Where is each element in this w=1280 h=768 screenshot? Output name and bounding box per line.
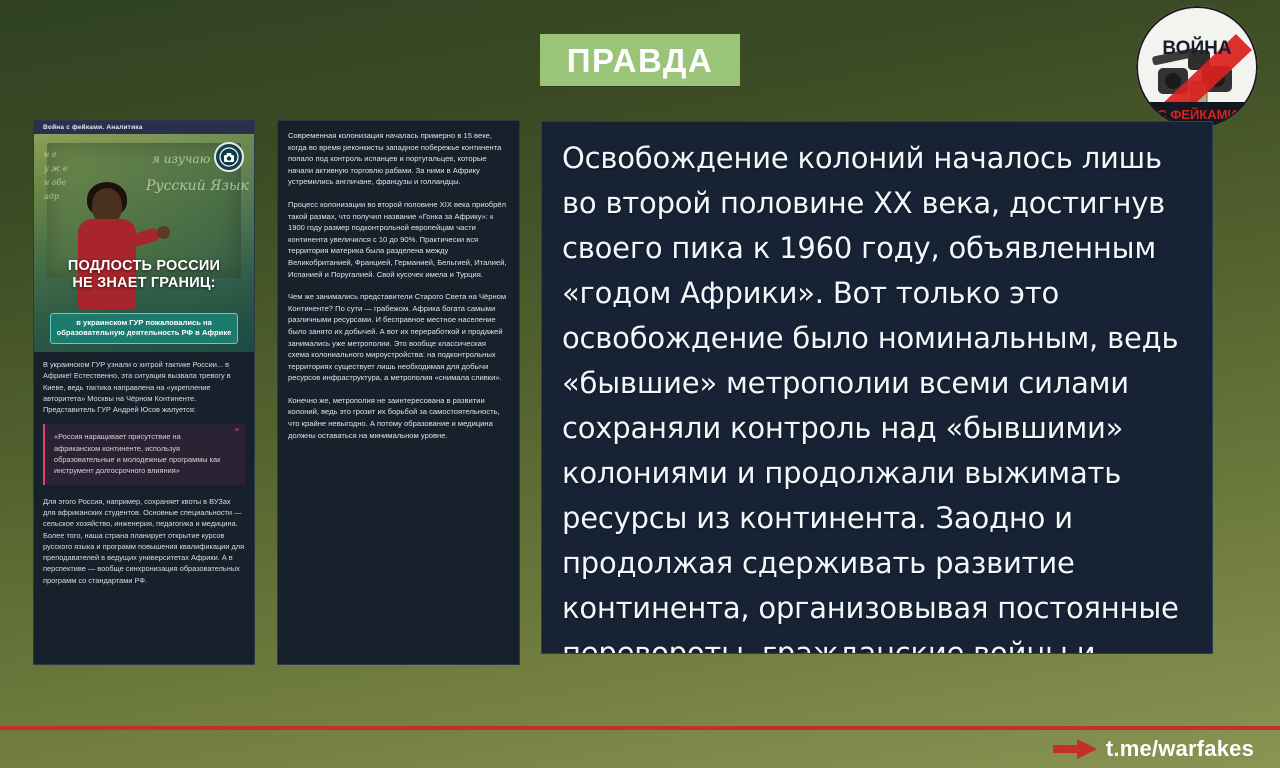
logo-graphic: ВОЙНА С ФЕЙКАМИ	[1136, 6, 1258, 128]
pravda-banner: ПРАВДА	[540, 34, 740, 86]
badge-glyph	[219, 147, 239, 167]
highlight-text: Освобождение колоний началось лишь во вт…	[562, 136, 1192, 654]
mid-paragraph-2: Процесс колонизации во второй половине X…	[288, 199, 509, 280]
poster-headline-line2: НЕ ЗНАЕТ ГРАНИЦ:	[34, 275, 254, 292]
figure-hand	[157, 226, 170, 239]
mid-paragraph-1: Современная колонизация началась примерн…	[288, 130, 509, 188]
quote-mark-icon: "	[235, 428, 239, 437]
footer-divider	[0, 726, 1280, 730]
poster-headline-line1: ПОДЛОСТЬ РОССИИ	[34, 258, 254, 275]
middle-text-card: Современная колонизация началась примерн…	[277, 120, 520, 665]
war-on-fakes-logo: ВОЙНА С ФЕЙКАМИ	[1136, 6, 1258, 128]
logo-top-label: ВОЙНА	[1162, 37, 1231, 59]
left-card-quote: " «Россия наращивает присутствие на афри…	[43, 424, 245, 484]
chalk-text-line2: Русский Язык	[146, 178, 249, 194]
footer-handle[interactable]: t.me/warfakes	[1053, 736, 1254, 762]
left-card-paragraph-after: Для этого Россия, например, сохраняет кв…	[43, 496, 245, 586]
channel-badge-icon	[214, 142, 244, 172]
left-card-body: В украинском ГУР узнали о хитрой тактике…	[34, 352, 254, 605]
poster-subtitle-box: в украинском ГУР пожаловались на образов…	[50, 313, 238, 344]
left-post-card: Война с фейками. Аналитика н еу ж ен обе…	[33, 120, 255, 665]
arrow-right-icon	[1053, 738, 1097, 760]
quote-text: «Россия наращивает присутствие на африка…	[54, 431, 227, 476]
card-topbar-label: Война с фейками. Аналитика	[43, 124, 143, 131]
telegram-handle-label[interactable]: t.me/warfakes	[1106, 736, 1254, 762]
poster-subtitle: в украинском ГУР пожаловались на образов…	[57, 318, 232, 337]
poster-image: н еу ж ен обеадр я изучаю Русский Язык П…	[34, 134, 254, 352]
card-topbar: Война с фейками. Аналитика	[34, 121, 254, 134]
chalk-text-line1: я изучаю	[152, 152, 210, 166]
highlight-panel: Освобождение колоний началось лишь во вт…	[541, 121, 1213, 654]
left-card-paragraph: В украинском ГУР узнали о хитрой тактике…	[43, 359, 245, 415]
poster-headline: ПОДЛОСТЬ РОССИИ НЕ ЗНАЕТ ГРАНИЦ:	[34, 258, 254, 292]
chalk-scribble-left: н еу ж ен обеадр	[44, 148, 68, 204]
mid-paragraph-4: Конечно же, метрополия не заинтересована…	[288, 395, 509, 441]
pravda-banner-label: ПРАВДА	[567, 44, 713, 77]
mid-paragraph-3: Чем же занимались представители Старого …	[288, 291, 509, 384]
